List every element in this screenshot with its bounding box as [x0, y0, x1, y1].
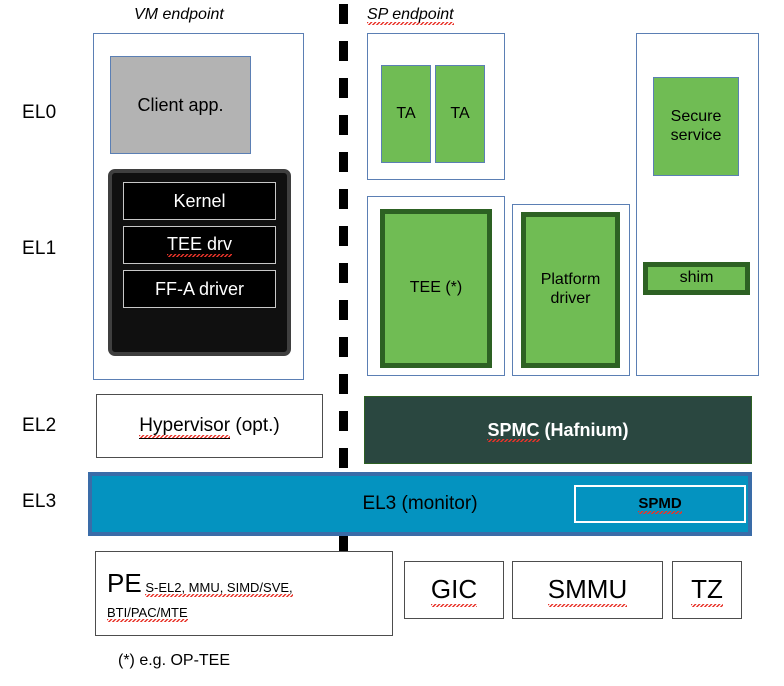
el-label-el2-text: EL2 — [22, 415, 56, 436]
platform-driver-box[interactable]: Platform driver — [521, 212, 620, 368]
kernel-label: Kernel — [173, 191, 225, 212]
el-label-el1: EL1 — [22, 238, 56, 260]
ta-box-2-label: TA — [450, 105, 469, 124]
spmc-label: SPMC (Hafnium) — [487, 420, 628, 441]
ta-box-2[interactable]: TA — [435, 65, 485, 163]
pe-detail-line1: S-EL2, MMU, SIMD/SVE, — [145, 580, 292, 597]
tz-box[interactable]: TZ — [672, 561, 742, 619]
el-label-el0: EL0 — [22, 102, 56, 124]
ta-box-1[interactable]: TA — [381, 65, 431, 163]
sp-endpoint-title: SP endpoint — [367, 6, 454, 24]
client-app-label: Client app. — [137, 95, 223, 116]
hypervisor-label-main: Hypervisor — [139, 415, 230, 439]
pe-box[interactable]: PE S-EL2, MMU, SIMD/SVE, BTI/PAC/MTE — [95, 551, 393, 636]
client-app-box[interactable]: Client app. — [110, 56, 251, 154]
spmd-box[interactable]: SPMD — [574, 485, 746, 523]
smmu-label: SMMU — [548, 574, 627, 607]
el-label-el2: EL2 — [22, 415, 56, 437]
platform-driver-label-line2: driver — [550, 290, 590, 309]
spmd-label: SPMD — [638, 495, 681, 514]
smmu-box[interactable]: SMMU — [512, 561, 663, 619]
vm-endpoint-title: VM endpoint — [134, 6, 224, 24]
ffa-driver-label: FF-A driver — [155, 279, 244, 300]
pe-title: PE — [107, 568, 142, 598]
ffa-driver-row[interactable]: FF-A driver — [123, 270, 276, 308]
tee-drv-row[interactable]: TEE drv — [123, 226, 276, 264]
el-label-el3: EL3 — [22, 491, 56, 513]
footnote: (*) e.g. OP-TEE — [118, 652, 230, 670]
spmc-label-main: SPMC — [487, 420, 539, 442]
pe-text-block: PE S-EL2, MMU, SIMD/SVE, BTI/PAC/MTE — [96, 552, 392, 623]
kernel-row[interactable]: Kernel — [123, 182, 276, 220]
tee-drv-label: TEE drv — [167, 234, 232, 257]
gic-box[interactable]: GIC — [404, 561, 504, 619]
platform-driver-label-line1: Platform — [541, 271, 601, 290]
spmc-label-hafnium: (Hafnium) — [540, 420, 629, 440]
tee-label: TEE (*) — [410, 279, 462, 298]
hypervisor-box[interactable]: Hypervisor (opt.) — [96, 394, 323, 458]
sp-endpoint-title-text: SP endpoint — [367, 6, 454, 25]
secure-service-label-line2: service — [671, 127, 722, 146]
el3-monitor-label: EL3 (monitor) — [362, 493, 477, 515]
secure-service-label-line1: Secure — [671, 108, 722, 127]
el-label-el1-text: EL1 — [22, 238, 56, 259]
spmc-box[interactable]: SPMC (Hafnium) — [364, 396, 752, 464]
el-label-el3-text: EL3 — [22, 491, 56, 512]
secure-service-box[interactable]: Secure service — [653, 77, 739, 176]
vm-endpoint-title-text: VM endpoint — [134, 6, 224, 23]
el-label-el0-text: EL0 — [22, 102, 56, 123]
ta-box-1-label: TA — [396, 105, 415, 124]
hypervisor-label-opt: (opt.) — [230, 415, 280, 436]
hypervisor-label: Hypervisor (opt.) — [139, 415, 279, 437]
tee-box[interactable]: TEE (*) — [380, 209, 492, 368]
shim-label: shim — [680, 269, 714, 288]
footnote-text: (*) e.g. OP-TEE — [118, 652, 230, 669]
shim-box[interactable]: shim — [643, 262, 750, 295]
gic-label: GIC — [431, 574, 477, 607]
tz-label: TZ — [691, 574, 723, 607]
pe-detail-line2: BTI/PAC/MTE — [107, 605, 188, 622]
kernel-stack-panel: Kernel TEE drv FF-A driver — [108, 169, 291, 356]
